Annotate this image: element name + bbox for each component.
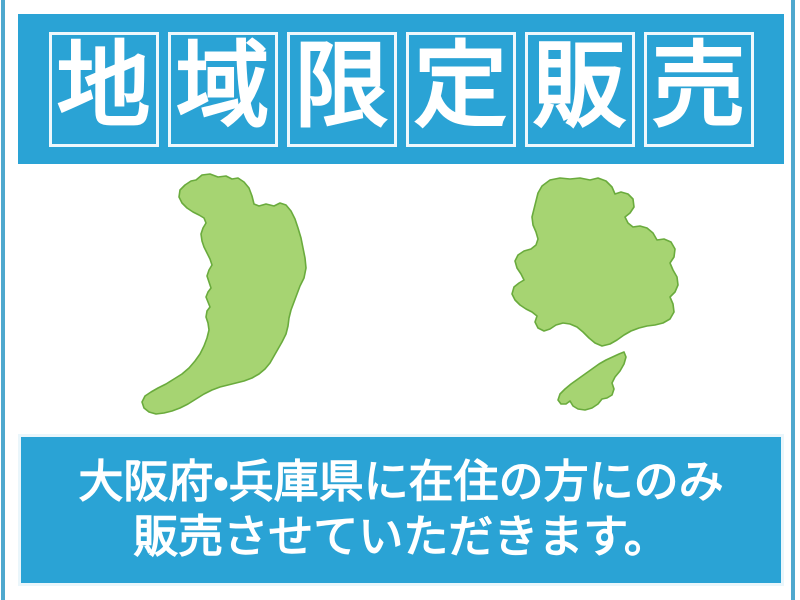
header-char-box-3: 限 bbox=[287, 32, 397, 147]
header-banner: 地 域 限 定 販 売 bbox=[18, 14, 784, 164]
right-edge-rule bbox=[791, 0, 795, 600]
awaji-island-shape bbox=[558, 352, 626, 410]
hyogo-mainland-shape bbox=[512, 178, 678, 346]
osaka-prefecture-map bbox=[128, 168, 348, 430]
header-char-box-2: 域 bbox=[168, 32, 278, 147]
left-edge-rule bbox=[1, 0, 5, 600]
poster-root: 地 域 限 定 販 売 bbox=[0, 0, 800, 600]
hyogo-map-svg bbox=[478, 168, 708, 430]
osaka-map-svg bbox=[128, 168, 348, 430]
osaka-mainland-shape bbox=[142, 174, 306, 414]
footer-text-line-1: 大阪府・兵庫県に在住の方にのみ bbox=[78, 455, 723, 510]
map-illustration-area bbox=[18, 164, 784, 434]
footer-banner: 大阪府・兵庫県に在住の方にのみ 販売させていただきます。 bbox=[18, 434, 784, 586]
header-char-glyph-5: 販 bbox=[532, 40, 626, 134]
header-char-box-1: 地 bbox=[49, 32, 159, 147]
header-char-glyph-2: 域 bbox=[175, 40, 269, 134]
header-char-glyph-3: 限 bbox=[294, 40, 388, 134]
hyogo-prefecture-map bbox=[478, 168, 708, 430]
header-char-glyph-1: 地 bbox=[56, 40, 150, 134]
header-char-glyph-6: 売 bbox=[651, 40, 745, 134]
header-char-box-5: 販 bbox=[525, 32, 635, 147]
header-char-box-6: 売 bbox=[644, 32, 754, 147]
header-char-box-4: 定 bbox=[406, 32, 516, 147]
header-char-glyph-4: 定 bbox=[413, 40, 507, 134]
footer-text-line-2: 販売させていただきます。 bbox=[133, 510, 669, 565]
